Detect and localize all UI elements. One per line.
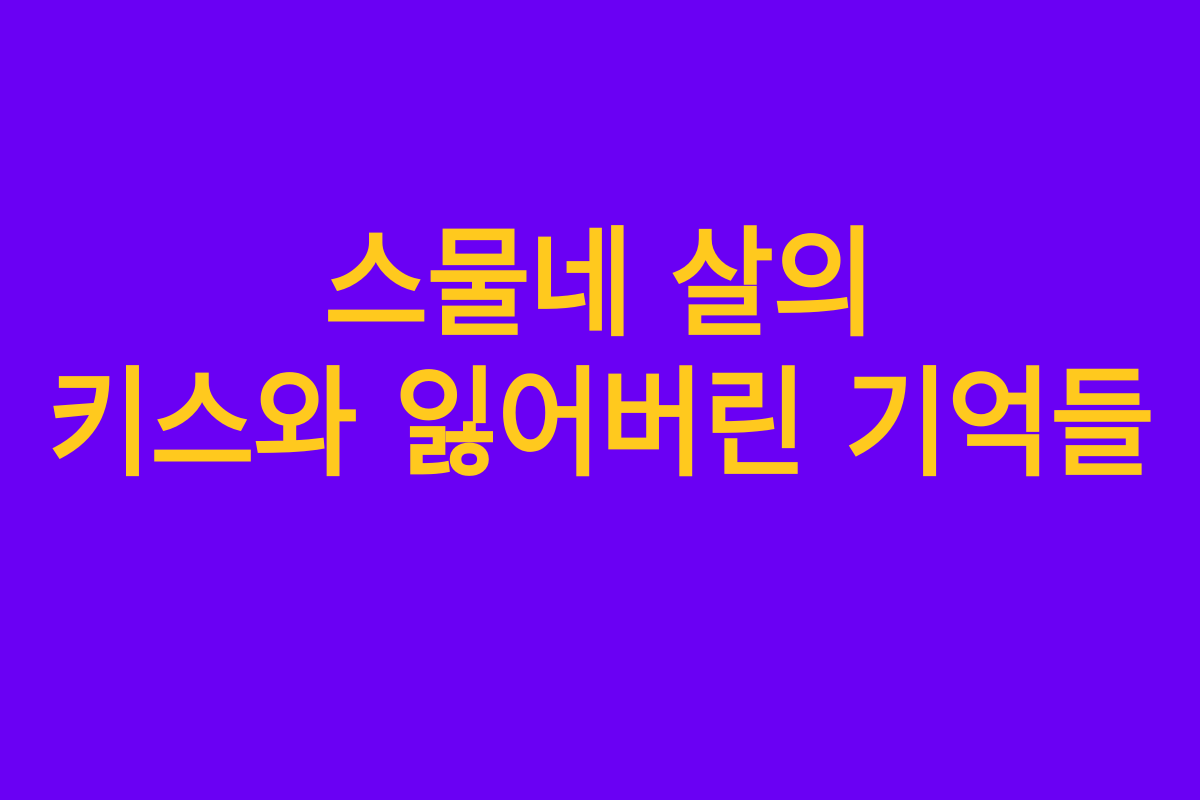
title-text-block: 스물네 살의 키스와 잃어버린 기억들 [0,0,1200,800]
title-card-canvas: 스물네 살의 키스와 잃어버린 기억들 [0,0,1200,800]
title-line-1: 스물네 살의 [324,225,875,343]
title-line-2: 키스와 잃어버린 기억들 [47,365,1153,483]
